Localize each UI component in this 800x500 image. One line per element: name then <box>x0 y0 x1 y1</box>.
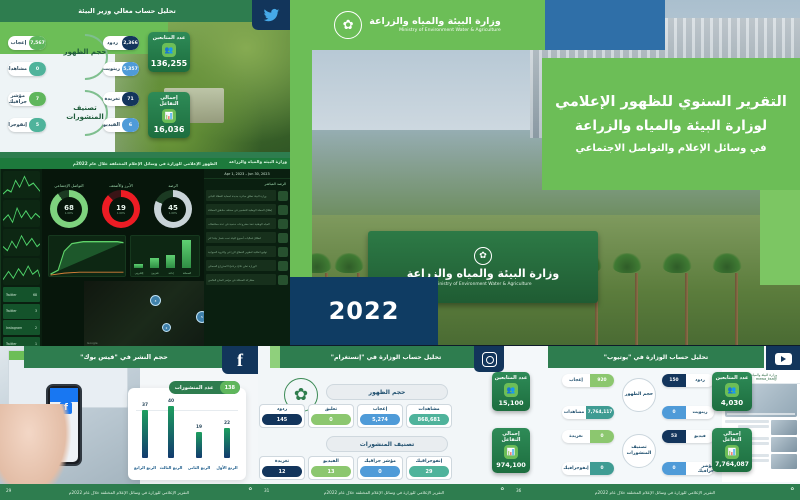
node-label: تغريدة <box>562 430 590 443</box>
rail-row-label: Twitter <box>6 309 17 313</box>
dashboard-header-ministry: وزارة البيئة والمياه والزراعة <box>229 159 287 164</box>
feed-item-text: توقيع اتفاقية لتطوير القطاع الزراعي والث… <box>206 246 276 257</box>
feed-item-text: إطلاق الحملة الوطنية للتشجير في مختلف من… <box>206 204 276 215</box>
saudi-emblem-icon: ✿ <box>334 11 362 39</box>
ministry-name-en: Ministry of Environment Water & Agricult… <box>369 27 501 34</box>
twitter-slide-header: تحليل حساب معالي وزير البيئة <box>0 0 254 22</box>
bar-label-q3: الربع الثالث <box>158 465 184 470</box>
ministry-logo-text: وزارة البيئة والمياه والزراعة Ministry o… <box>369 16 501 34</box>
feed-title: الرصد المباشر <box>204 179 290 188</box>
node-label: إنفوجرافيك <box>407 457 451 465</box>
twitter-followers-card: عدد المتابعين 👥 136,255 <box>148 32 190 72</box>
rail-row-label: Twitter <box>6 293 17 297</box>
gauge-sub: 1.00% <box>117 212 125 215</box>
twitter-bird-icon <box>252 0 290 30</box>
card-value: 15,100 <box>494 399 528 407</box>
video-thumbnail <box>771 454 797 469</box>
cover-title-block: التقرير السنوي للظهور الإعلامي لوزارة ال… <box>542 58 800 190</box>
node-label: تغريدة <box>103 96 122 102</box>
node-label: مشاهدات <box>8 66 29 72</box>
avatar <box>278 233 288 243</box>
node-value: 5,357 <box>122 62 139 76</box>
dashboard-feed-panel: Apr 1, 2023 – Jun 30, 2023 الرصد المباشر… <box>204 169 290 346</box>
twitter-node-replies: 2,366 ردود <box>103 36 139 50</box>
media-monitoring-dashboard: الظهور الإعلامي للوزارة في وسائل الإعلام… <box>0 158 290 346</box>
page-number: 36 <box>516 488 521 493</box>
instagram-icon <box>474 346 504 372</box>
avatar <box>278 247 288 257</box>
rail-row-value: 2 <box>35 326 37 330</box>
youtube-group2-hub: تصنيف المنشورات <box>622 434 656 468</box>
node-value: 0 <box>662 462 686 475</box>
node-value: 868,681 <box>409 414 449 425</box>
youtube-analysis-slide: تحليل حساب الوزارة في "يوتيوب" حجم الظهو… <box>510 346 800 500</box>
instagram-group2-label: تصنيف المنشورات <box>326 436 448 452</box>
dashboard-title: الظهور الإعلامي للوزارة في وسائل الإعلام… <box>73 161 217 166</box>
youtube-node-post: 0 تغريدة <box>562 430 614 443</box>
node-label: تعليق <box>309 405 353 413</box>
gauge-value: 19 <box>116 204 126 212</box>
gauge-card-3: التواصل الإجتماعي 68 1.00% <box>42 183 96 228</box>
node-value: 150 <box>662 374 686 387</box>
node-label: مؤشر جرافيك <box>686 462 714 475</box>
cover-title-line3: في وسائل الإعلام والتواصل الاجتماعي <box>575 142 766 155</box>
card-title: إجمالي التفاعل <box>714 431 750 443</box>
footer-text: التقرير الإعلامي للوزارة في وسائل الإعلا… <box>324 490 444 495</box>
youtube-node-likes: 920 إعجاب <box>562 374 614 387</box>
feed-item-text: انطلاق فعاليات أسبوع البيئة تحت شعار بيئ… <box>206 232 276 243</box>
node-value: 12 <box>262 466 302 477</box>
instagram-node-infographic: إنفوجرافيك 29 <box>406 456 452 480</box>
instagram-header-label: تحليل حساب الوزارة في "إنستغرام" <box>331 354 442 361</box>
bar-q2 <box>196 432 202 458</box>
feed-item-text: مشاركة المملكة في مؤتمر المناخ العالمي <box>206 274 276 285</box>
rail-row: 3 Twitter <box>3 304 40 319</box>
node-value: 2,366 <box>122 36 139 50</box>
node-value: 29 <box>409 466 449 477</box>
node-label: إعجاب <box>358 405 402 413</box>
twitter-group1-label: حجم الظهور <box>55 48 115 57</box>
followers-icon: 👥 <box>162 43 176 57</box>
node-label: ريتويت <box>686 406 714 419</box>
node-value: 0 <box>590 462 614 475</box>
sparkline-chart <box>3 258 40 285</box>
posts-count-badge: 138 عدد المنشورات <box>169 381 240 394</box>
node-value: 0 <box>662 406 686 419</box>
facebook-header-label: حجم النشر في "فيس بوك" <box>80 353 168 361</box>
bar-label: إلكتروني <box>132 272 146 275</box>
dashboard-center: الرصد 45 1.00% الأبرز والأضعف 19 1.00% <box>42 169 204 346</box>
facebook-icon: f <box>222 346 258 374</box>
avatar <box>278 205 288 215</box>
avatar <box>278 219 288 229</box>
instagram-group2-leaves: إنفوجرافيك 29 مؤشر جرافيك 0 الفيديو 13 ت… <box>259 456 452 480</box>
feed-item[interactable]: توقيع اتفاقية لتطوير القطاع الزراعي والث… <box>206 245 288 258</box>
screenshot-collage: تحليل حساب معالي وزير البيئة حجم الظهور … <box>0 0 800 500</box>
sparkline-chart <box>3 200 40 227</box>
feed-item[interactable]: الوزارة تعلن نتائج برنامج الاستزراع السم… <box>206 259 288 272</box>
node-label: ردود <box>686 374 714 387</box>
video-thumbnail <box>771 420 797 435</box>
node-label: إنفوجرافيك <box>562 462 590 475</box>
feed-item[interactable]: المياه الوطنية تنفذ مشروعات خدمية في عدة… <box>206 217 288 230</box>
gauge-card-1: الرصد 45 1.00% <box>146 183 200 228</box>
node-value: 6 <box>122 118 139 132</box>
bar-label-q1: الربع الأول <box>214 465 240 470</box>
node-label: إعجاب <box>562 374 590 387</box>
node-label: إعجاب <box>8 40 29 46</box>
engagement-icon: 📊 <box>725 445 739 459</box>
gauge-value: 45 <box>168 204 178 212</box>
saudi-emblem-icon: ✿ <box>474 247 492 265</box>
card-value: 16,036 <box>150 125 188 134</box>
card-value: 4,030 <box>714 399 750 407</box>
card-title: عدد المتابعين <box>150 35 188 41</box>
dashboard-header: الظهور الإعلامي للوزارة في وسائل الإعلام… <box>0 158 290 169</box>
footer-text: التقرير الإعلامي للوزارة في وسائل الإعلا… <box>69 490 189 495</box>
twitter-node-infographic: 5 إنفوجرافيك <box>8 118 46 132</box>
node-value: 0 <box>590 430 614 443</box>
feed-item[interactable]: مشاركة المملكة في مؤتمر المناخ العالمي <box>206 273 288 286</box>
node-value: 7 <box>29 92 46 106</box>
facebook-posts-chart-card: 138 عدد المنشورات 22 19 40 37 الربع الأو… <box>128 388 246 480</box>
node-value: 13 <box>311 466 351 477</box>
youtube-slide-footer: التقرير الإعلامي للوزارة في وسائل الإعلا… <box>510 484 800 500</box>
gauge-title: التواصل الإجتماعي <box>42 183 96 188</box>
sparkline-chart <box>3 171 40 198</box>
instagram-slide-footer: التقرير الإعلامي للوزارة في وسائل الإعلا… <box>258 484 510 500</box>
bar-value-q4: 37 <box>136 403 154 408</box>
map-marker[interactable]: 3 <box>150 295 161 306</box>
card-title: إجمالي التفاعل <box>150 95 188 107</box>
youtube-node-replies: ردود 150 <box>662 374 714 387</box>
facebook-slide-photo: f <box>0 346 140 500</box>
sign-english-text: Ministry of Environment Water & Agricult… <box>434 282 531 287</box>
date-range-selector[interactable]: Apr 1, 2023 – Jun 30, 2023 <box>204 169 290 179</box>
node-value: 7,567 <box>29 36 46 50</box>
report-cover-slide: ✿ وزارة البيئة والمياه والزراعة Ministry… <box>290 0 800 345</box>
ministry-name-ar: وزارة البيئة والمياه والزراعة <box>369 16 501 27</box>
youtube-node-infographic: 0 إنفوجرافيك <box>562 462 614 475</box>
blue-accent-strip <box>545 0 665 50</box>
twitter-node-views: 0 مشاهدات <box>8 62 46 76</box>
rail-row: 68 Twitter <box>3 287 40 302</box>
instagram-node-graphic: مؤشر جرافيك 0 <box>357 456 403 480</box>
twitter-engagement-card: إجمالي التفاعل 📊 16,036 <box>148 92 190 138</box>
gauge-donut: 68 1.00% <box>50 190 88 228</box>
date-range-label: Apr 1, 2023 – Jun 30, 2023 <box>224 172 269 176</box>
bar-label: الصحافة <box>180 272 194 275</box>
feed-item-text: الوزارة تعلن نتائج برنامج الاستزراع السم… <box>206 260 276 271</box>
instagram-node-post: تغريدة 12 <box>259 456 305 480</box>
dashboard-line-chart <box>48 235 126 277</box>
cover-title-line2: لوزارة البيئة والمياه والزراعة <box>575 118 767 135</box>
instagram-node-likes: إعجاب 5,274 <box>357 404 403 428</box>
youtube-engagement-card: إجمالي التفاعل 📊 7,764,087 <box>712 428 752 472</box>
card-title: عدد المتابعين <box>714 375 750 381</box>
node-label: ردود <box>260 405 304 413</box>
bar-label: إذاعة <box>164 272 178 275</box>
followers-icon: 👥 <box>725 383 739 397</box>
node-label: تغريدة <box>260 457 304 465</box>
bar-label: تلفزيون <box>148 272 162 275</box>
right-green-strip <box>760 190 800 285</box>
avatar <box>278 275 288 285</box>
node-label: مؤشر جرافيك <box>358 457 402 465</box>
bar-value-q1: 22 <box>218 421 236 426</box>
twitter-node-tweets: 71 تغريدة <box>103 92 139 106</box>
instagram-node-replies: ردود 145 <box>259 404 305 428</box>
badge-value: 138 <box>220 381 240 394</box>
bar-q4 <box>142 410 148 458</box>
footer-text: التقرير الإعلامي للوزارة في وسائل الإعلا… <box>595 490 715 495</box>
node-value: 145 <box>262 414 302 425</box>
gauge-donut: 19 1.00% <box>102 190 140 228</box>
instagram-node-video: الفيديو 13 <box>308 456 354 480</box>
instagram-node-comments: تعليق 0 <box>308 404 354 428</box>
card-title: عدد المتابعين <box>494 375 528 381</box>
youtube-followers-card: عدد المتابعين 👥 4,030 <box>712 372 752 411</box>
node-value: 920 <box>590 374 614 387</box>
node-value: 53 <box>662 430 686 443</box>
page-number: 31 <box>264 488 269 493</box>
twitter-node-graphic: 7 مؤشر جرافيك <box>8 92 46 106</box>
rail-row-value: 3 <box>35 309 37 313</box>
facebook-slide-footer: التقرير الإعلامي للوزارة في وسائل الإعلا… <box>0 484 258 500</box>
ministry-logo-bar: وزارة البيئة والمياه والزراعة Ministry o… <box>290 0 545 50</box>
twitter-node-retweets: 5,357 ريتويت <box>103 62 139 76</box>
avatar <box>278 191 288 201</box>
saudi-emblem-icon: ✿ <box>248 486 252 491</box>
youtube-icon <box>766 346 800 372</box>
dashboard-left-rail: 68 Twitter 3 Twitter 2 Instagram 1 Twitt… <box>0 169 42 346</box>
youtube-group2-label: تصنيف المنشورات <box>623 445 655 457</box>
twitter-analysis-slide: تحليل حساب معالي وزير البيئة حجم الظهور … <box>0 0 290 160</box>
instagram-node-views: مشاهدات 868,681 <box>406 404 452 428</box>
followers-icon: 👥 <box>504 383 518 397</box>
bar-label-q4: الربع الرابع <box>132 465 158 470</box>
instagram-engagement-card: إجمالي التفاعل 📊 974,100 <box>492 428 530 473</box>
instagram-slide-header: تحليل حساب الوزارة في "إنستغرام" <box>280 346 492 368</box>
feed-item-text: وزارة البيئة تطلق مبادرة جديدة لحماية ال… <box>206 190 276 201</box>
node-label: ردود <box>103 40 122 46</box>
video-thumbnail <box>771 437 797 452</box>
badge-label: عدد المنشورات <box>169 385 220 391</box>
gauge-sub: 1.00% <box>169 212 177 215</box>
youtube-group1-label: حجم الظهور <box>625 392 653 398</box>
left-green-strip <box>290 50 312 303</box>
facebook-slide-header: حجم النشر في "فيس بوك" <box>24 346 224 368</box>
node-value: 0 <box>360 466 400 477</box>
dashboard-bar-chart: الصحافة إذاعة تلفزيون إلكتروني <box>130 235 200 277</box>
node-value: 71 <box>122 92 139 106</box>
engagement-icon: 📊 <box>162 109 176 123</box>
bar-label-q2: الربع الثاني <box>186 465 212 470</box>
node-label: إنفوجرافيك <box>8 122 29 128</box>
card-value: 7,764,087 <box>714 461 750 468</box>
node-label: ريتويت <box>103 66 122 72</box>
node-label: مشاهدات <box>562 406 586 419</box>
card-value: 974,100 <box>494 461 528 469</box>
twitter-node-likes: 7,567 إعجاب <box>8 36 46 50</box>
node-value: 5 <box>29 118 46 132</box>
youtube-header-label: تحليل حساب الوزارة في "يوتيوب" <box>604 354 708 361</box>
gauge-sub: 1.00% <box>65 212 73 215</box>
instagram-group1-leaves: مشاهدات 868,681 إعجاب 5,274 تعليق 0 ردود… <box>259 404 452 428</box>
node-label: الفيديو <box>309 457 353 465</box>
cover-year: 2022 <box>329 297 400 325</box>
youtube-group1-hub: حجم الظهور <box>622 378 656 412</box>
rail-row-label: Instagram <box>6 326 22 330</box>
youtube-node-shares: ريتويت 0 <box>662 406 714 419</box>
bar-q1 <box>224 428 230 458</box>
saudi-emblem-icon: ✿ <box>790 486 794 491</box>
cover-year-block: 2022 <box>290 277 438 345</box>
feed-item[interactable]: إطلاق الحملة الوطنية للتشجير في مختلف من… <box>206 203 288 216</box>
youtube-node-graphic: مؤشر جرافيك 0 <box>662 462 714 475</box>
avatar <box>278 261 288 271</box>
feed-item[interactable]: انطلاق فعاليات أسبوع البيئة تحت شعار بيئ… <box>206 231 288 244</box>
gauge-donut: 45 1.00% <box>154 190 192 228</box>
node-value: 0 <box>29 62 46 76</box>
cover-title-line1: التقرير السنوي للظهور الإعلامي <box>555 93 787 111</box>
node-label: مؤشر جرافيك <box>8 93 29 105</box>
map-credit: Google <box>87 341 98 345</box>
gauge-title: الأبرز والأضعف <box>94 183 148 188</box>
page-number: 29 <box>6 488 11 493</box>
feed-item-text: المياه الوطنية تنفذ مشروعات خدمية في عدة… <box>206 218 276 229</box>
rail-row: 2 Instagram <box>3 320 40 335</box>
bar-q3 <box>168 406 174 458</box>
rail-row: 1 Twitter <box>3 337 40 347</box>
youtube-slide-header: تحليل حساب الوزارة في "يوتيوب" <box>548 346 764 368</box>
twitter-node-video: 6 الفيديو <box>103 118 139 132</box>
twitter-header-label: تحليل حساب معالي وزير البيئة <box>78 7 176 15</box>
instagram-followers-card: عدد المتابعين 👥 15,100 <box>492 372 530 411</box>
node-label: فيديو <box>686 430 714 443</box>
sparkline-chart <box>3 229 40 256</box>
gauge-card-2: الأبرز والأضعف 19 1.00% <box>94 183 148 228</box>
card-title: إجمالي التفاعل <box>494 431 528 443</box>
gauge-title: الرصد <box>146 183 200 188</box>
gauge-value: 68 <box>64 204 74 212</box>
node-label: مشاهدات <box>407 405 451 413</box>
youtube-node-views: 7,764,117 مشاهدات <box>562 406 614 419</box>
instagram-group1-label: حجم الظهور <box>326 384 448 400</box>
dashboard-body: 68 Twitter 3 Twitter 2 Instagram 1 Twitt… <box>0 169 290 346</box>
bar-value-q2: 19 <box>190 425 208 430</box>
engagement-icon: 📊 <box>504 445 518 459</box>
node-value: 5,274 <box>360 414 400 425</box>
feed-item[interactable]: وزارة البيئة تطلق مبادرة جديدة لحماية ال… <box>206 189 288 202</box>
node-value: 7,764,117 <box>586 406 614 419</box>
bar-value-q3: 40 <box>162 399 180 404</box>
youtube-node-video: فيديو 53 <box>662 430 714 443</box>
instagram-analysis-slide: تحليل حساب الوزارة في "إنستغرام" ✿ حجم ا… <box>258 346 510 500</box>
saudi-emblem-icon: ✿ <box>500 486 504 491</box>
rail-row-value: 68 <box>33 293 37 297</box>
map-marker[interactable]: 2 <box>162 323 171 332</box>
card-value: 136,255 <box>150 59 188 68</box>
node-label: الفيديو <box>103 122 122 128</box>
node-value: 0 <box>311 414 351 425</box>
